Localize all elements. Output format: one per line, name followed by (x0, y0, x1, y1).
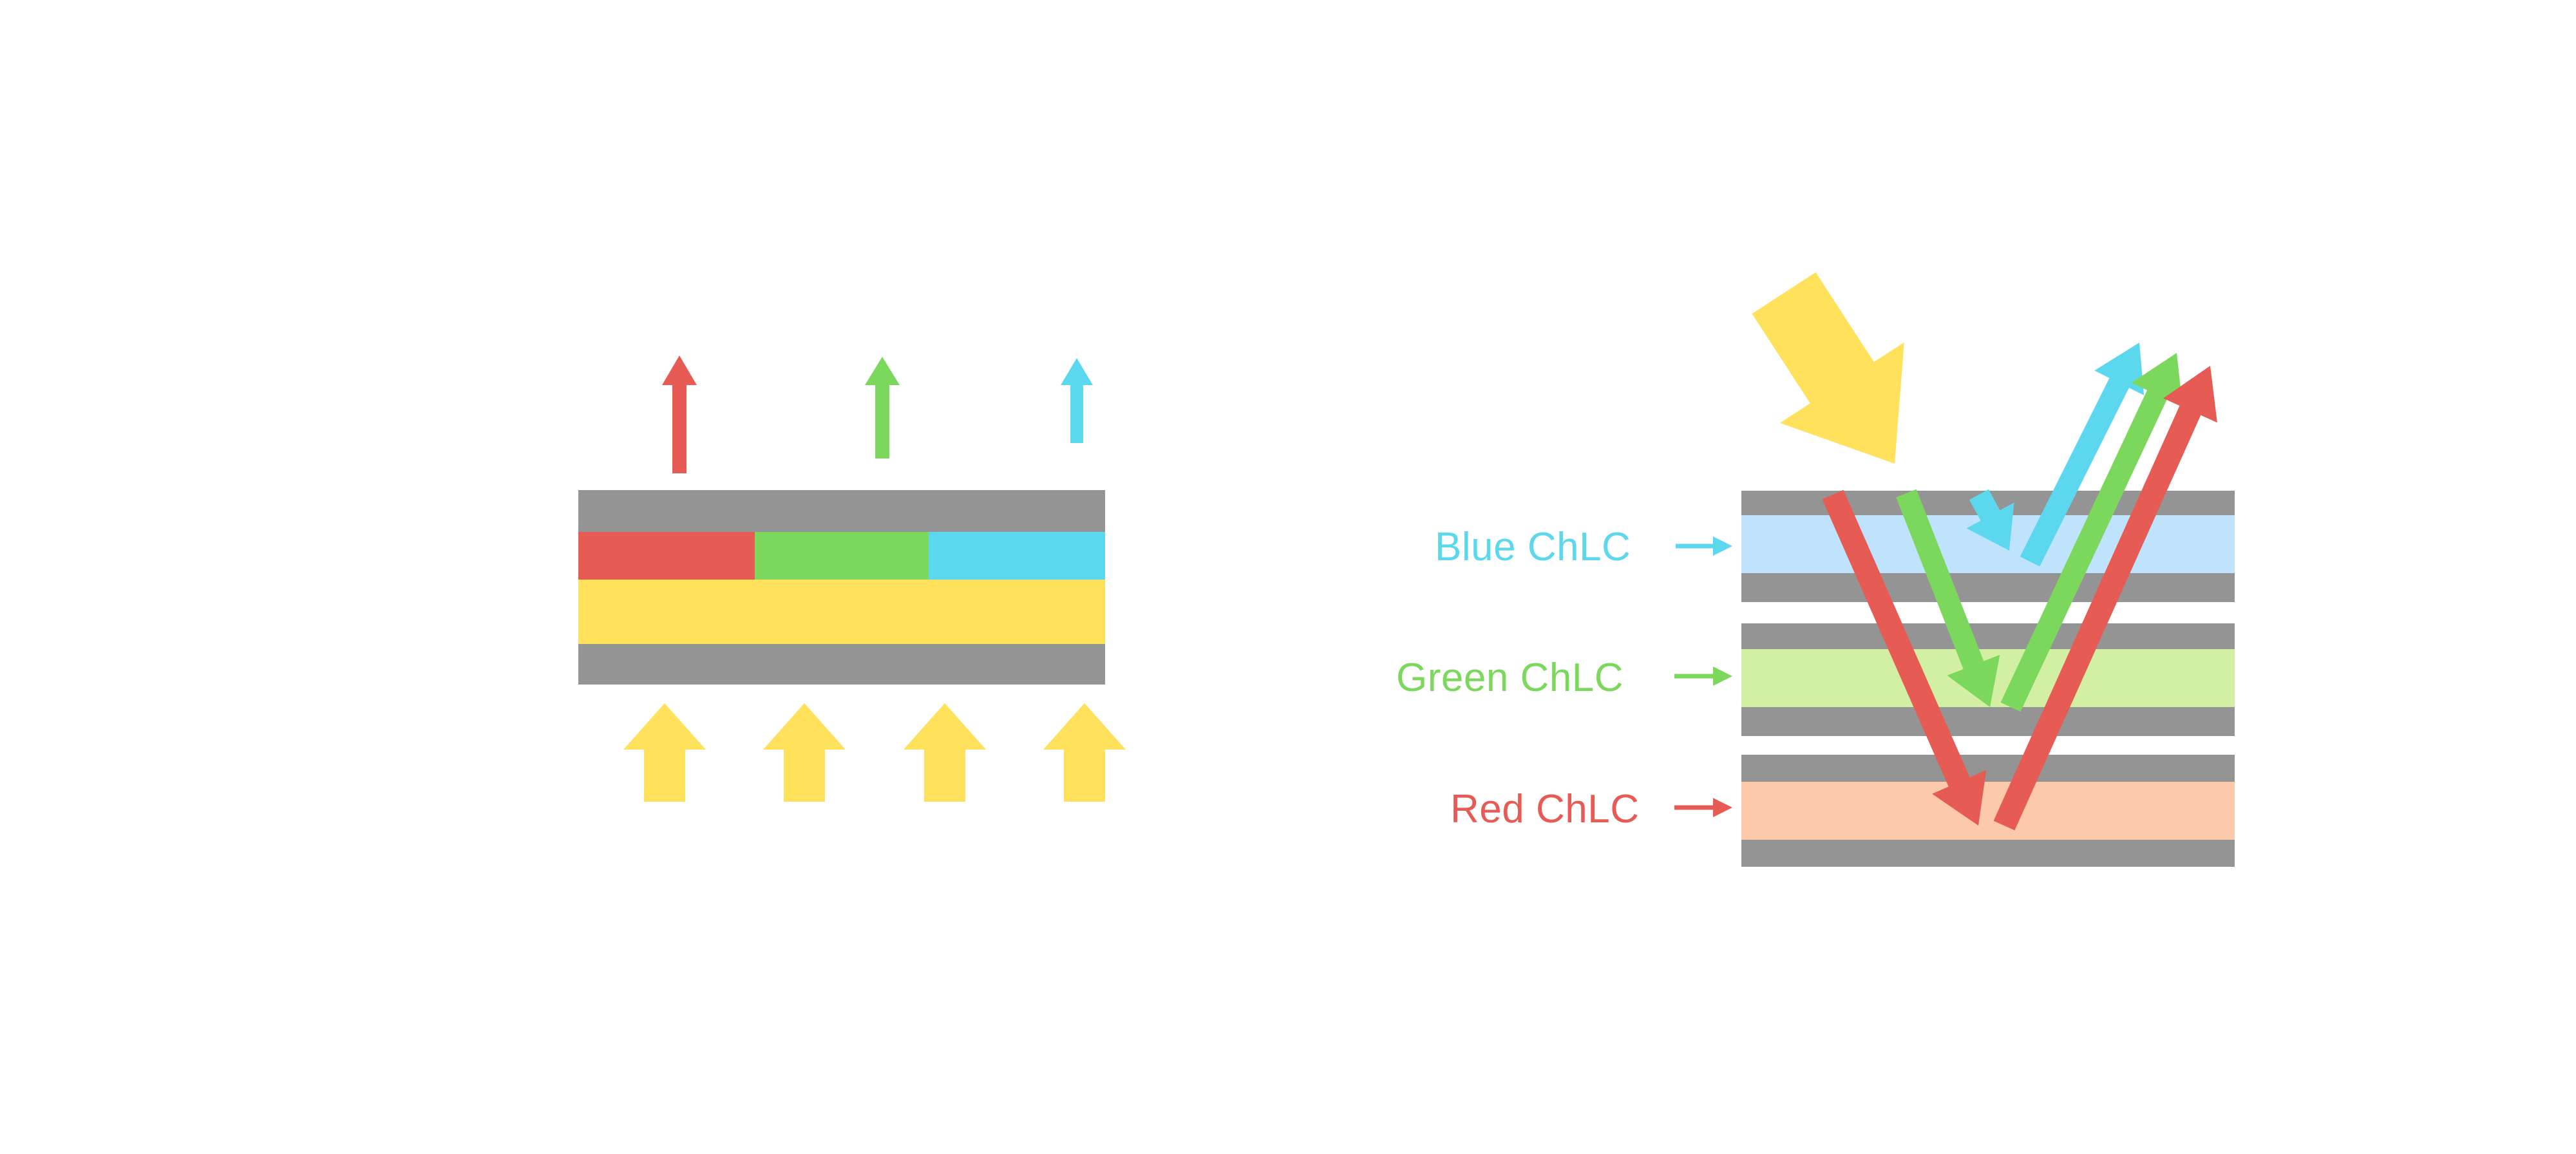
blue-chlc-cell-leader-arrow-icon (1713, 536, 1732, 556)
emitted-green-arrow (865, 357, 900, 459)
red-chlc-cell-leader-arrow-icon (1713, 798, 1732, 817)
red-chlc-cell-label: Red ChLC (1450, 787, 1639, 831)
blue-chlc-cell-bottom-electrode (1741, 573, 2235, 602)
green-chlc-cell-top-electrode (1741, 623, 2235, 649)
top-electrode (578, 490, 1105, 532)
backlight-arrow-1 (623, 703, 706, 802)
blue-chlc-cell-label: Blue ChLC (1435, 525, 1631, 569)
bottom-electrode (578, 644, 1105, 685)
emitted-blue-arrow (1061, 358, 1093, 443)
green-chlc-cell-leader-arrow-icon (1713, 667, 1732, 686)
red-chlc-cell-lc-layer (1741, 782, 2235, 840)
blue-filter (929, 532, 1105, 580)
green-filter (755, 532, 929, 580)
red-chlc-cell-top-electrode (1741, 755, 2235, 782)
backlight-arrow-3 (904, 703, 986, 802)
green-chlc-cell-label: Green ChLC (1396, 656, 1624, 700)
chlc-display-diagram: Blue ChLCGreen ChLCRed ChLC (0, 0, 2576, 1154)
green-chlc-cell-bottom-electrode (1741, 707, 2235, 736)
incident-white-light-arrow (1752, 272, 1904, 464)
diagram-canvas: Blue ChLCGreen ChLCRed ChLC (0, 0, 2576, 1154)
emitted-red-arrow (662, 355, 697, 473)
backlight-arrow-2 (763, 703, 846, 802)
backlight-layer (578, 580, 1105, 644)
backlight-arrow-4 (1043, 703, 1126, 802)
red-filter (578, 532, 755, 580)
red-chlc-cell-bottom-electrode (1741, 840, 2235, 867)
